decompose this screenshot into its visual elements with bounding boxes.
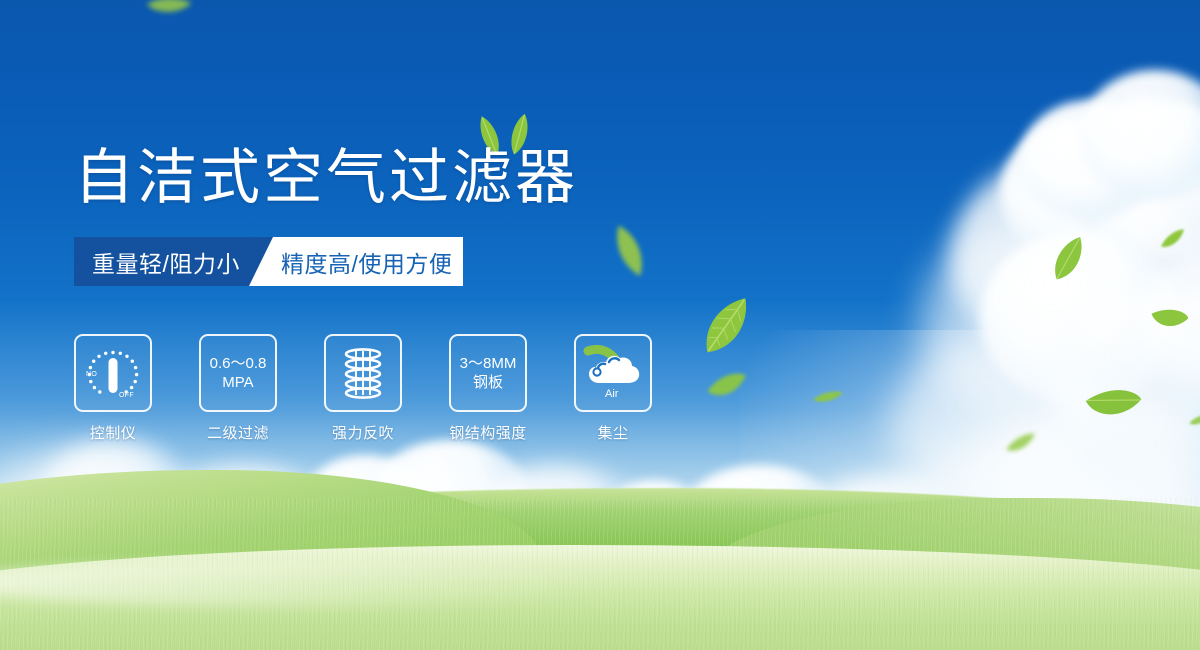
banner-content: 自洁式空气过滤器 重量轻/阻力小 精度高/使用方便 <box>0 0 1200 650</box>
feature-label: 集尘 <box>597 422 628 443</box>
page-title: 自洁式空气过滤器 <box>74 142 578 214</box>
feature-item-strong-backblow[interactable]: 强力反吹 <box>324 334 402 443</box>
feature-label: 强力反吹 <box>332 422 394 443</box>
filter-coil-icon <box>324 334 402 412</box>
feature-label: 钢结构强度 <box>449 422 527 443</box>
feature-label: 二级过滤 <box>207 422 269 443</box>
feature-label: 控制仪 <box>90 422 137 443</box>
feature-item-controller[interactable]: NO OFF 控制仪 <box>74 334 152 443</box>
feature-item-two-stage-filter[interactable]: 0.6～0.8 MPA 二级过滤 <box>199 334 277 443</box>
feature-list: NO OFF 控制仪 0.6～0.8 MPA 二级过滤 <box>74 334 652 443</box>
air-cloud-icon: Air <box>574 334 652 412</box>
pressure-unit-text: MPA <box>222 373 253 392</box>
feature-item-dust-collection[interactable]: Air 集尘 <box>574 334 652 443</box>
product-banner: 自洁式空气过滤器 重量轻/阻力小 精度高/使用方便 <box>0 0 1200 650</box>
feature-item-steel-strength[interactable]: 3～8MM 钢板 钢结构强度 <box>449 334 527 443</box>
pressure-text-icon: 0.6～0.8 MPA <box>199 334 277 412</box>
steel-plate-text-icon: 3～8MM 钢板 <box>449 334 527 412</box>
subtitle-right-text: 精度高/使用方便 <box>281 237 452 286</box>
subtitle-bar: 重量轻/阻力小 精度高/使用方便 <box>74 237 463 286</box>
subtitle-left-text: 重量轻/阻力小 <box>92 237 240 286</box>
steel-plate-text: 钢板 <box>473 373 503 392</box>
svg-text:OFF: OFF <box>119 392 134 399</box>
svg-text:NO: NO <box>86 371 97 378</box>
gauge-icon: NO OFF <box>74 334 152 412</box>
steel-thickness-text: 3～8MM <box>460 354 517 373</box>
pressure-range-text: 0.6～0.8 <box>210 354 267 373</box>
svg-text:Air: Air <box>605 388 619 400</box>
